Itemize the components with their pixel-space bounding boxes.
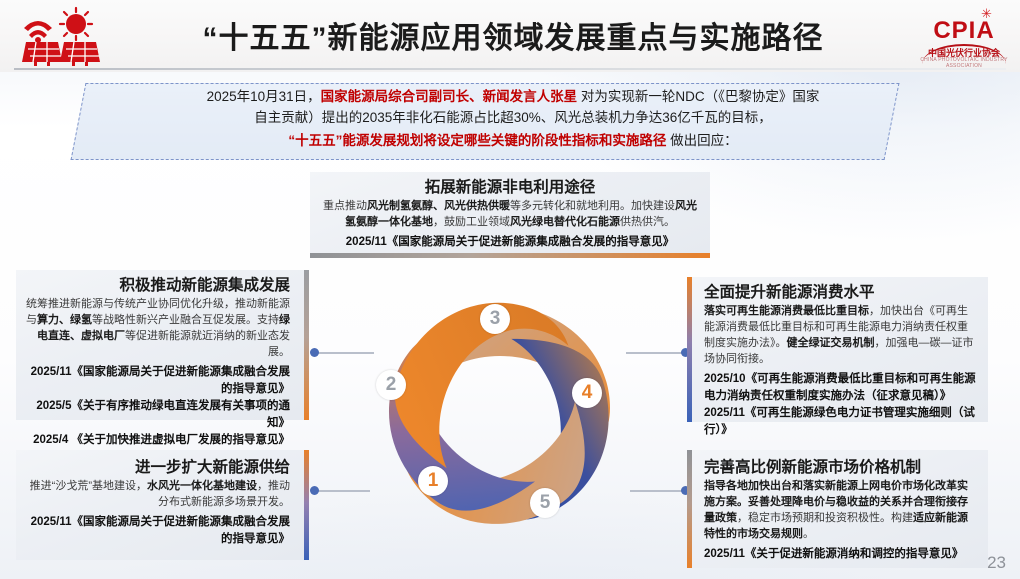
card-doc-item: 2025/11《国家能源局关于促进新能源集成融合发展的指导意见》 — [320, 234, 700, 251]
card-doc-item: 2025/4 《关于加快推进虚拟电厂发展的指导意见》 — [24, 432, 290, 449]
card-accent-bar-left-top — [304, 270, 309, 420]
card-doc-item: 2025/11《关于促进新能源消纳和调控的指导意见》 — [704, 546, 978, 563]
card-body: 指导各地加快出台和落实新能源上网电价市场化改革实施方案。妥善处理降电价与稳收益的… — [704, 478, 978, 542]
quote-line3-highlight: “十五五”能源发展规划将设定哪些关键的阶段性指标和实施路径 — [288, 133, 666, 148]
quote-line1-prefix: 2025年10月31日， — [207, 89, 321, 104]
star-icon: ✳ — [981, 6, 992, 22]
quote-banner-text: 2025年10月31日，国家能源局综合司副司长、新闻发言人张星 对为实现新一轮N… — [108, 86, 918, 156]
card-expand-non-electric-use[interactable]: 拓展新能源非电利用途径 重点推动风光制氢氨醇、风光供热供暖等多元转化和就地利用。… — [310, 172, 710, 256]
pinwheel-number-3: 3 — [480, 304, 510, 334]
card-body: 推进“沙戈荒”基地建设，水风光一体化基地建设，推动分布式新能源多场景开发。 — [24, 478, 290, 510]
pinwheel-number-4: 4 — [572, 378, 602, 408]
card-expand-supply[interactable]: 进一步扩大新能源供给 推进“沙戈荒”基地建设，水风光一体化基地建设，推动分布式新… — [16, 450, 304, 560]
solar-panel-logo-svg — [14, 6, 110, 66]
quote-line-2: 自主贡献）提出的2035年非化石能源占比超30%、风光总装机力争达36亿千瓦的目… — [108, 107, 918, 128]
card-body: 重点推动风光制氢氨醇、风光供热供暖等多元转化和就地利用。加快建设风光氢氨醇一体化… — [320, 198, 700, 230]
pinwheel-diagram: 1 2 3 4 5 — [348, 280, 652, 548]
connector-dot-left-bottom — [310, 486, 319, 495]
quote-line-3: “十五五”能源发展规划将设定哪些关键的阶段性指标和实施路径 做出回应： — [108, 130, 918, 151]
card-title: 积极推动新能源集成发展 — [24, 276, 290, 296]
header-divider — [14, 68, 1006, 70]
card-doc-item: 2025/11《国家能源局关于促进新能源集成融合发展的指导意见》 — [24, 364, 290, 398]
cpia-letters: CPIA — [916, 18, 1012, 44]
page-title: “十五五”新能源应用领域发展重点与实施路径 — [118, 13, 908, 57]
card-doc-item: 2025/11《国家能源局关于促进新能源集成融合发展的指导意见》 — [24, 514, 290, 548]
pinwheel-number-2: 2 — [376, 370, 406, 400]
solar-panel-logo — [14, 6, 110, 66]
card-body: 落实可再生能源消费最低比重目标，加快出台《可再生能源消费最低比重目标和可再生能源… — [704, 303, 978, 367]
card-promote-integration[interactable]: 积极推动新能源集成发展 统筹推进新能源与传统产业协同优化升级，推动新能源与算力、… — [16, 270, 304, 420]
card-accent-bar-top — [310, 253, 710, 258]
slide-header: “十五五”新能源应用领域发展重点与实施路径 ✳ CPIA 中国光伏行业协会 CH… — [0, 0, 1020, 72]
card-doc-list: 2025/11《国家能源局关于促进新能源集成融合发展的指导意见》 — [320, 234, 700, 251]
card-doc-list: 2025/11《国家能源局关于促进新能源集成融合发展的指导意见》 — [24, 514, 290, 548]
card-market-price-mechanism[interactable]: 完善高比例新能源市场价格机制 指导各地加快出台和落实新能源上网电价市场化改革实施… — [692, 450, 988, 568]
card-title: 全面提升新能源消费水平 — [704, 283, 978, 303]
page-number: 23 — [987, 553, 1006, 573]
quote-line1-highlight: 国家能源局综合司副司长、新闻发言人张星 — [321, 89, 578, 104]
cpia-logo: ✳ CPIA 中国光伏行业协会 CHINA PHOTOVOLTAIC INDUS… — [916, 4, 1012, 66]
card-accent-bar-right-bottom — [687, 450, 692, 568]
card-doc-item: 2025/5《关于有序推动绿电直连发展有关事项的通知》 — [24, 398, 290, 432]
card-title: 完善高比例新能源市场价格机制 — [704, 458, 978, 478]
connector-dot-left-top — [310, 348, 319, 357]
card-title: 拓展新能源非电利用途径 — [320, 178, 700, 198]
card-doc-list: 2025/11《关于促进新能源消纳和调控的指导意见》 — [704, 546, 978, 563]
card-accent-bar-left-bottom — [304, 450, 309, 560]
card-title: 进一步扩大新能源供给 — [24, 458, 290, 478]
quote-line3-suffix: 做出回应： — [666, 133, 737, 148]
card-body: 统筹推进新能源与传统产业协同优化升级，推动新能源与算力、绿氢等战略性新兴产业融合… — [24, 296, 290, 360]
card-doc-item: 2025/11《可再生能源绿色电力证书管理实施细则（试行）》 — [704, 405, 978, 439]
quote-line1-suffix: 对为实现新一轮NDC（《巴黎协定》国家 — [577, 89, 819, 104]
slide-root: “十五五”新能源应用领域发展重点与实施路径 ✳ CPIA 中国光伏行业协会 CH… — [0, 0, 1020, 579]
card-doc-list: 2025/11《国家能源局关于促进新能源集成融合发展的指导意见》2025/5《关… — [24, 364, 290, 449]
card-doc-item: 2025/10《可再生能源消费最低比重目标和可再生能源电力消纳责任权重制度实施办… — [704, 371, 978, 405]
card-improve-consumption[interactable]: 全面提升新能源消费水平 落实可再生能源消费最低比重目标，加快出台《可再生能源消费… — [692, 277, 988, 422]
pinwheel-number-5: 5 — [530, 488, 560, 518]
quote-line-1: 2025年10月31日，国家能源局综合司副司长、新闻发言人张星 对为实现新一轮N… — [108, 86, 918, 107]
card-doc-list: 2025/10《可再生能源消费最低比重目标和可再生能源电力消纳责任权重制度实施办… — [704, 371, 978, 439]
pinwheel-number-1: 1 — [418, 466, 448, 496]
card-accent-bar-right-top — [687, 277, 692, 422]
